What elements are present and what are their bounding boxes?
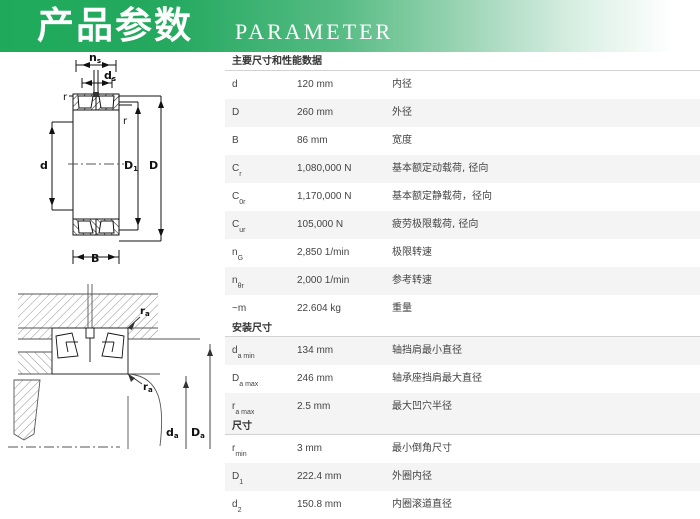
section-heading: 尺寸 [232,417,252,432]
label-r-mid: r [123,116,128,127]
banner-title-cn: 产品参数 [37,1,193,51]
bearing-mounting-drawing: ra ra da Da [0,284,225,456]
row-symbol: da min [232,345,255,357]
row-symbol: D [232,107,239,119]
row-description: 参考转速 [392,275,432,287]
row-symbol: ~m [232,303,246,315]
table-row: nG2,850 1/min极限转速 [225,239,700,267]
row-description: 最小倒角尺寸 [392,443,452,455]
table-row: Cr1,080,000 N基本额定动载荷, 径向 [225,155,700,183]
table-row: nθr2,000 1/min参考转速 [225,267,700,295]
row-value: 2,850 1/min [297,247,349,259]
row-description: 外径 [392,107,412,119]
table-row: d120 mm内径 [225,71,700,99]
row-description: 最大凹穴半径 [392,401,452,413]
specification-panel: 主要尺寸和性能数据 d120 mm内径D260 mm外径B86 mm宽度Cr1,… [225,52,700,456]
row-value: 2,000 1/min [297,275,349,287]
label-Da: Da [191,426,205,440]
table-row: rmin3 mm最小倒角尺寸 [225,435,700,463]
label-B: B [91,252,99,265]
row-symbol: B [232,135,239,147]
row-description: 外圈内径 [392,471,432,483]
row-description: 轴承座挡肩最大直径 [392,373,482,385]
table-row: D260 mm外径 [225,99,700,127]
row-symbol: rmin [232,443,247,455]
bearing-cross-section-drawing: ns ds r r d D1 D B [0,52,225,284]
row-value: 260 mm [297,107,333,119]
label-da: da [166,426,179,440]
row-value: 222.4 mm [297,471,341,483]
table-row: Cur105,000 N疲劳极限载荷, 径向 [225,211,700,239]
spec-table-rows: d120 mm内径D260 mm外径B86 mm宽度Cr1,080,000 N基… [225,71,700,519]
row-value: 3 mm [297,443,322,455]
row-value: 246 mm [297,373,333,385]
row-description: 内圈滚道直径 [392,499,452,511]
label-r-top: r [63,92,68,103]
row-description: 内径 [392,79,412,91]
row-description: 宽度 [392,135,412,147]
row-description: 基本额定静载荷，径向 [392,191,492,203]
row-value: 86 mm [297,135,328,147]
page-banner: 产品参数 PARAMETER [0,0,700,52]
row-value: 120 mm [297,79,333,91]
row-description: 重量 [392,303,412,315]
label-ds: ds [104,69,116,83]
row-value: 1,170,000 N [297,191,352,203]
row-symbol: C0r [232,191,245,203]
row-symbol: Da max [232,373,258,385]
drawings-panel: ns ds r r d D1 D B [0,52,225,456]
table-row: ~m22.604 kg重量安装尺寸 [225,295,700,337]
label-ns: ns [89,52,101,65]
table-row: da min134 mm轴挡肩最小直径 [225,337,700,365]
table-row: D1222.4 mm外圈内径 [225,463,700,491]
row-description: 基本额定动载荷, 径向 [392,163,488,175]
label-d: d [40,159,48,172]
row-value: 134 mm [297,345,333,357]
row-value: 150.8 mm [297,499,341,511]
spec-table-title: 主要尺寸和性能数据 [225,52,700,71]
table-row: Da max246 mm轴承座挡肩最大直径 [225,365,700,393]
row-symbol: ra max [232,401,254,413]
table-row: C0r1,170,000 N基本额定静载荷，径向 [225,183,700,211]
row-symbol: D1 [232,471,243,483]
row-symbol: Cur [232,219,245,231]
label-D: D [149,159,158,172]
row-symbol: Cr [232,163,242,175]
banner-title-en: PARAMETER [235,18,393,46]
table-row: d2150.8 mm内圈滚道直径 [225,491,700,519]
row-symbol: nθr [232,275,244,287]
table-row: ra max2.5 mm最大凹穴半径尺寸 [225,393,700,435]
row-description: 轴挡肩最小直径 [392,345,462,357]
label-D1: D1 [124,159,138,173]
table-row: B86 mm宽度 [225,127,700,155]
row-value: 22.604 kg [297,303,341,315]
row-value: 2.5 mm [297,401,330,413]
row-symbol: nG [232,247,243,259]
row-symbol: d2 [232,499,241,511]
row-description: 疲劳极限载荷, 径向 [392,219,478,231]
row-value: 105,000 N [297,219,343,231]
row-description: 极限转速 [392,247,432,259]
row-value: 1,080,000 N [297,163,352,175]
section-heading: 安装尺寸 [232,319,272,334]
row-symbol: d [232,79,238,91]
